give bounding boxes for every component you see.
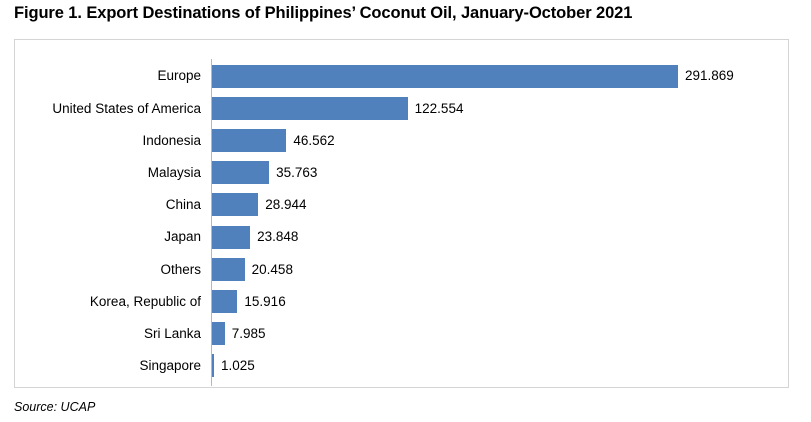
bar-value-label: 28.944 (265, 198, 306, 212)
bar-row: Singapore1.025 (15, 350, 788, 382)
bar-value-label: 122.554 (415, 102, 464, 116)
bar[interactable] (212, 161, 269, 184)
category-label: China (15, 189, 201, 221)
bar[interactable] (212, 322, 225, 345)
bar[interactable] (212, 290, 237, 313)
category-label: Indonesia (15, 124, 201, 156)
plot-area: Europe291.869United States of America122… (15, 40, 788, 387)
bar-row: Japan23.848 (15, 221, 788, 253)
bar-row: Europe291.869 (15, 60, 788, 92)
category-label: Sri Lanka (15, 318, 201, 350)
bar-row: China28.944 (15, 189, 788, 221)
category-label: Japan (15, 221, 201, 253)
bar-row: Sri Lanka7.985 (15, 318, 788, 350)
bar-with-label: 291.869 (212, 60, 734, 92)
bar-row: Indonesia46.562 (15, 124, 788, 156)
bar-value-label: 20.458 (252, 263, 293, 277)
bar-value-label: 291.869 (685, 69, 734, 83)
bar-with-label: 7.985 (212, 318, 266, 350)
category-label: Korea, Republic of (15, 285, 201, 317)
bar-with-label: 28.944 (212, 189, 307, 221)
bar-with-label: 122.554 (212, 92, 463, 124)
bar-with-label: 20.458 (212, 253, 293, 285)
page-title: Figure 1. Export Destinations of Philipp… (14, 4, 804, 23)
bar-row: United States of America122.554 (15, 92, 788, 124)
bar-row: Others20.458 (15, 253, 788, 285)
source-note: Source: UCAP (14, 400, 95, 414)
category-label: Others (15, 253, 201, 285)
bar-value-label: 23.848 (257, 230, 298, 244)
bar[interactable] (212, 129, 286, 152)
bar-with-label: 46.562 (212, 124, 335, 156)
bar[interactable] (212, 97, 408, 120)
bar-with-label: 1.025 (212, 350, 255, 382)
bar-row: Korea, Republic of15.916 (15, 285, 788, 317)
bar[interactable] (212, 65, 678, 88)
bar[interactable] (212, 226, 250, 249)
category-label: United States of America (15, 92, 201, 124)
bar-with-label: 23.848 (212, 221, 298, 253)
bar[interactable] (212, 354, 214, 377)
bar-with-label: 15.916 (212, 285, 286, 317)
chart-container: Europe291.869United States of America122… (14, 39, 789, 388)
bar-value-label: 1.025 (221, 359, 255, 373)
bar-row: Malaysia35.763 (15, 157, 788, 189)
bar[interactable] (212, 193, 258, 216)
bar-value-label: 15.916 (244, 295, 285, 309)
bar-value-label: 7.985 (232, 327, 266, 341)
bar[interactable] (212, 258, 245, 281)
bar-value-label: 35.763 (276, 166, 317, 180)
category-label: Singapore (15, 350, 201, 382)
category-label: Europe (15, 60, 201, 92)
bar-value-label: 46.562 (293, 134, 334, 148)
bar-with-label: 35.763 (212, 157, 317, 189)
category-label: Malaysia (15, 157, 201, 189)
